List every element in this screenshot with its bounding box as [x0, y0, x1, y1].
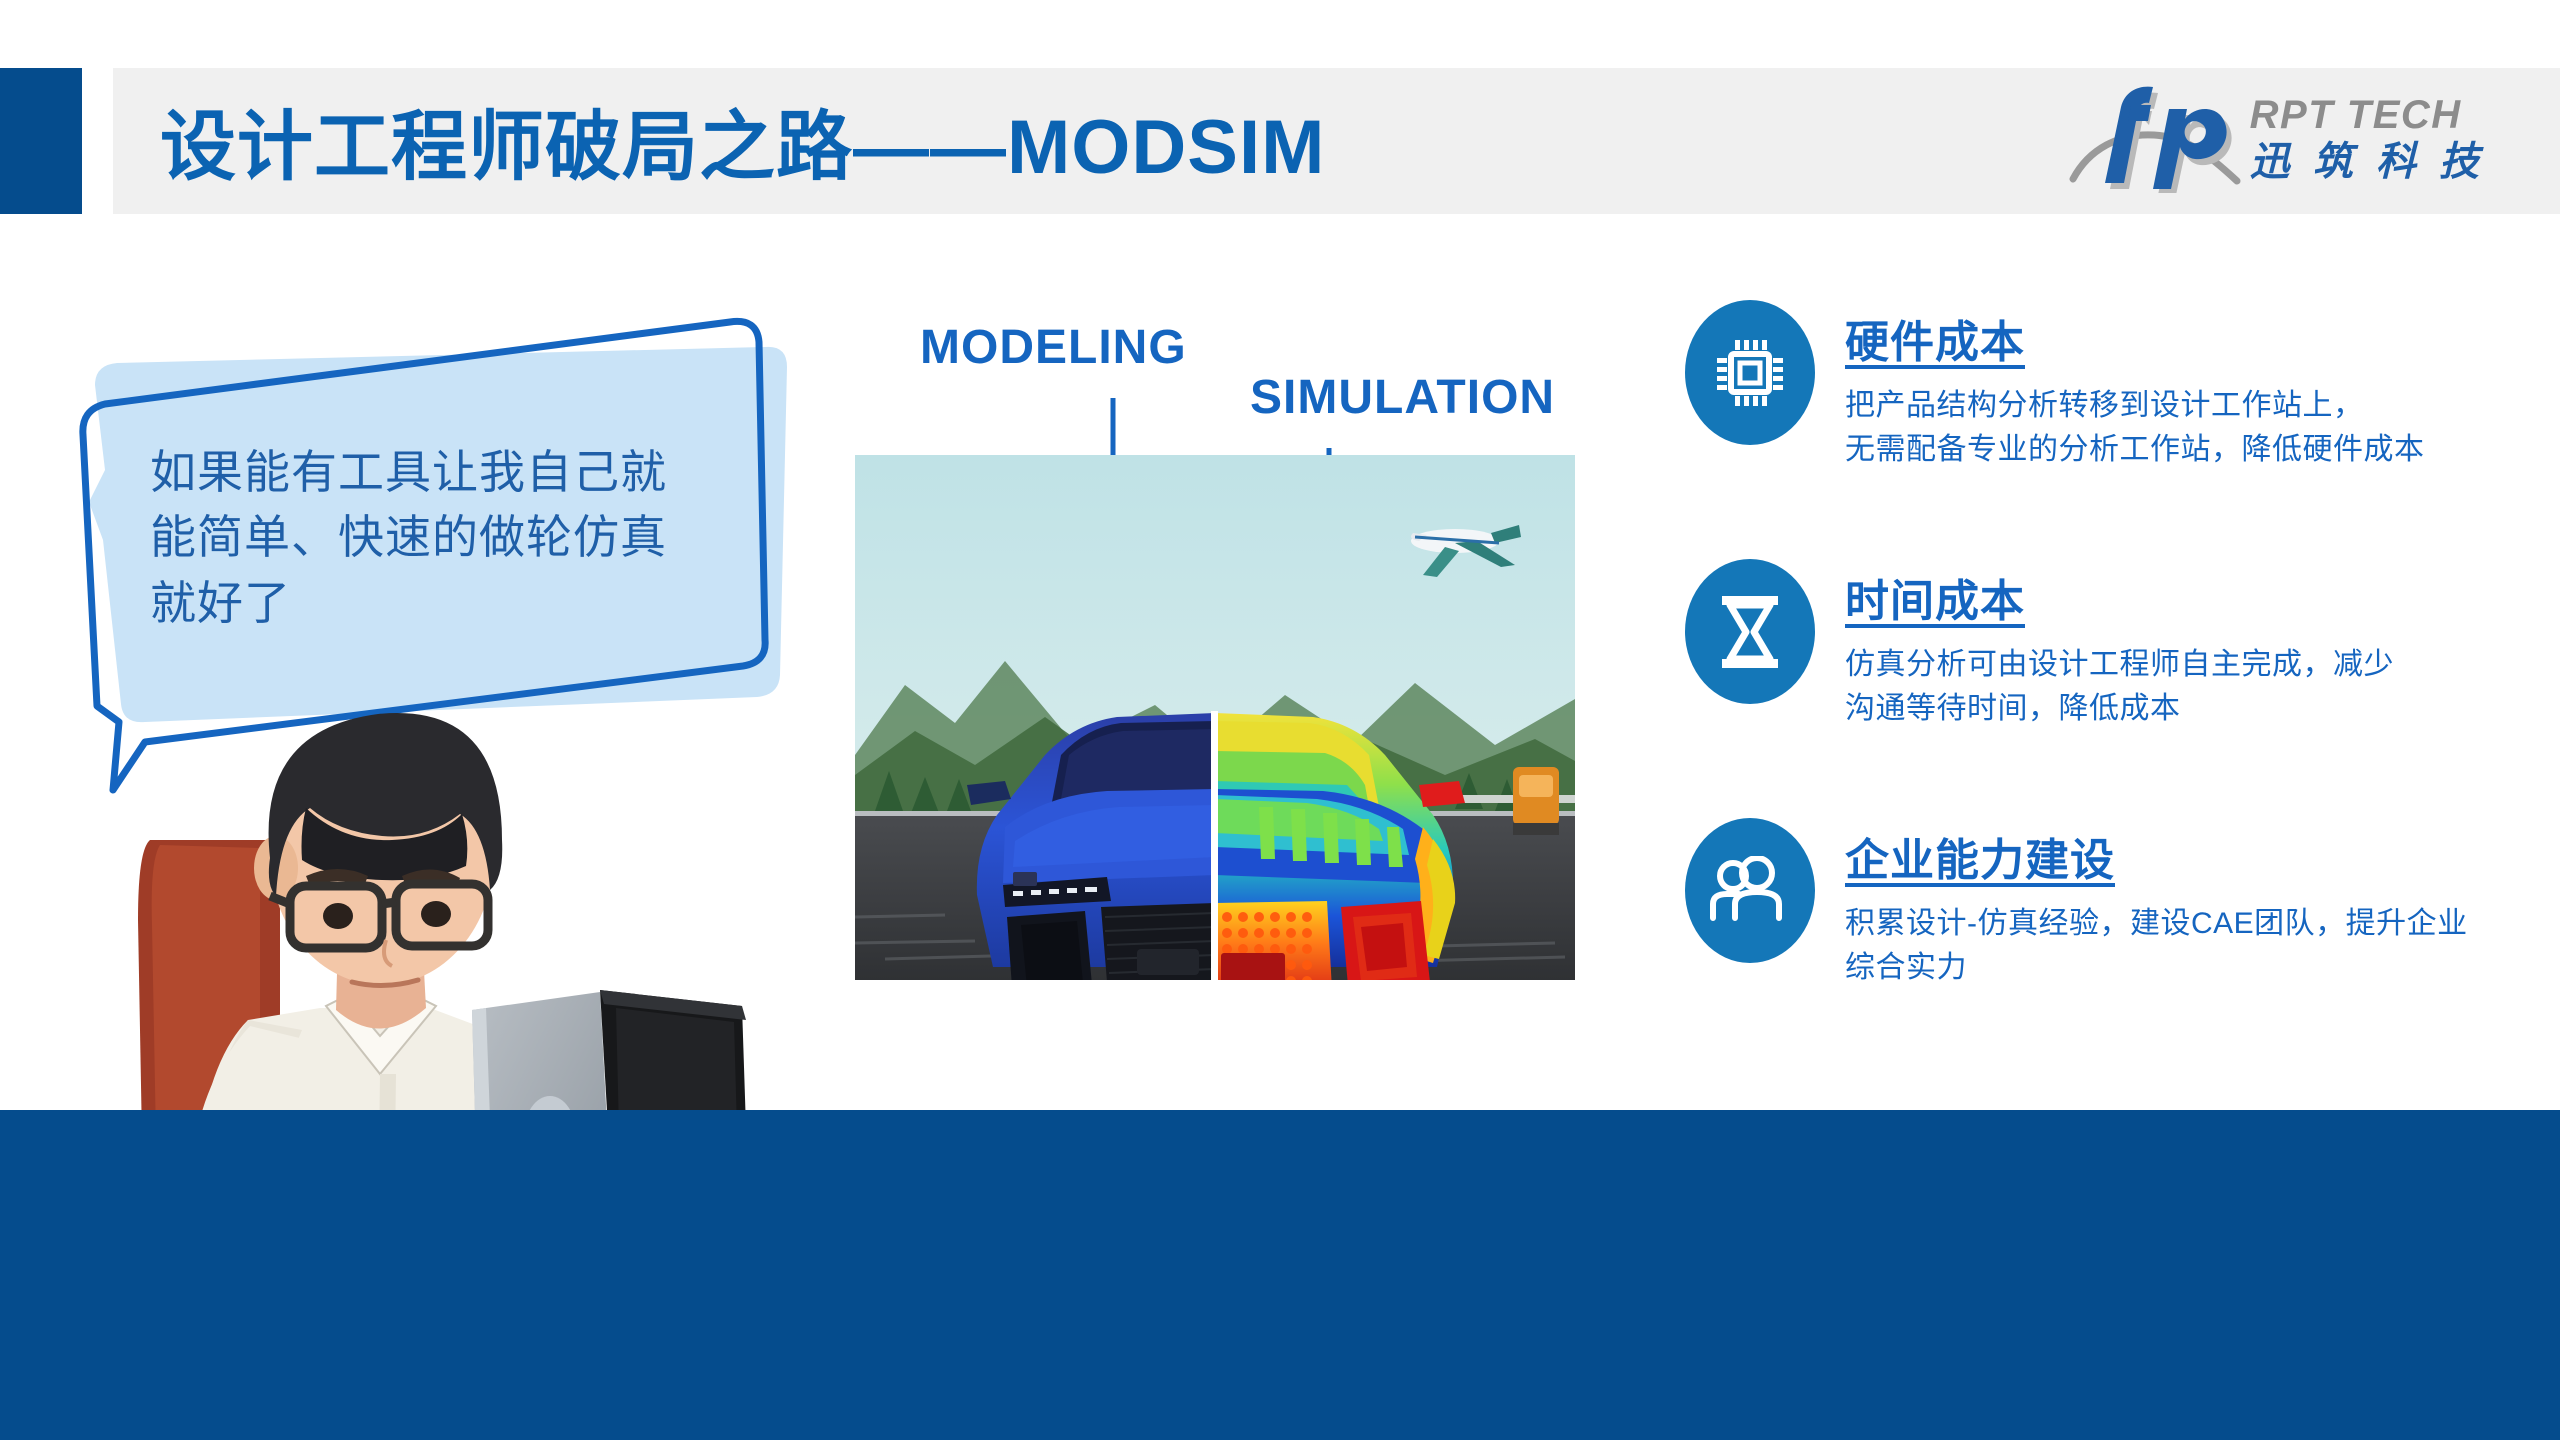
bottom-blue-band [0, 1110, 2560, 1440]
feature-description: 积累设计-仿真经验，建设CAE团队，提升企业 综合实力 [1845, 902, 2468, 989]
simulation-label: SIMULATION [1250, 370, 1555, 425]
speech-bubble-text: 如果能有工具让我自己就能简单、快速的做轮仿真就好了 [150, 440, 710, 636]
people-icon [1685, 818, 1815, 963]
feature-description: 仿真分析可由设计工程师自主完成，减少 沟通等待时间，降低成本 [1845, 643, 2394, 730]
feature-list: 硬件成本 把产品结构分析转移到设计工作站上， 无需配备专业的分析工作站，降低硬件… [1685, 300, 2545, 1077]
feature-body: 硬件成本 把产品结构分析转移到设计工作站上， 无需配备专业的分析工作站，降低硬件… [1845, 300, 2425, 471]
page-title: 设计工程师破局之路——MODSIM [160, 85, 1325, 195]
hourglass-icon [1685, 559, 1815, 704]
feature-body: 时间成本 仿真分析可由设计工程师自主完成，减少 沟通等待时间，降低成本 [1845, 559, 2394, 730]
feature-title[interactable]: 时间成本 [1845, 565, 2394, 629]
feature-title[interactable]: 硬件成本 [1845, 306, 2425, 370]
modeling-label: MODELING [920, 320, 1187, 375]
header-accent-bar [0, 68, 82, 214]
feature-item-time-cost[interactable]: 时间成本 仿真分析可由设计工程师自主完成，减少 沟通等待时间，降低成本 [1685, 559, 2545, 730]
rpt-swoosh-icon [2069, 83, 2244, 193]
car-modeling-simulation-image [855, 455, 1575, 980]
feature-item-capability-building[interactable]: 企业能力建设 积累设计-仿真经验，建设CAE团队，提升企业 综合实力 [1685, 818, 2545, 989]
brand-logo: RPT TECH 迅 筑 科 技 [2069, 78, 2485, 198]
slide-root: 设计工程师破局之路——MODSIM RP [0, 0, 2560, 1440]
feature-body: 企业能力建设 积累设计-仿真经验，建设CAE团队，提升企业 综合实力 [1845, 818, 2468, 989]
chip-icon [1685, 300, 1815, 445]
logo-text-block: RPT TECH 迅 筑 科 技 [2250, 95, 2485, 182]
logo-chinese-name: 迅 筑 科 技 [2250, 142, 2485, 182]
logo-english-name: RPT TECH [2250, 95, 2485, 135]
feature-title[interactable]: 企业能力建设 [1845, 824, 2468, 888]
feature-item-hardware-cost[interactable]: 硬件成本 把产品结构分析转移到设计工作站上， 无需配备专业的分析工作站，降低硬件… [1685, 300, 2545, 471]
feature-description: 把产品结构分析转移到设计工作站上， 无需配备专业的分析工作站，降低硬件成本 [1845, 384, 2425, 471]
